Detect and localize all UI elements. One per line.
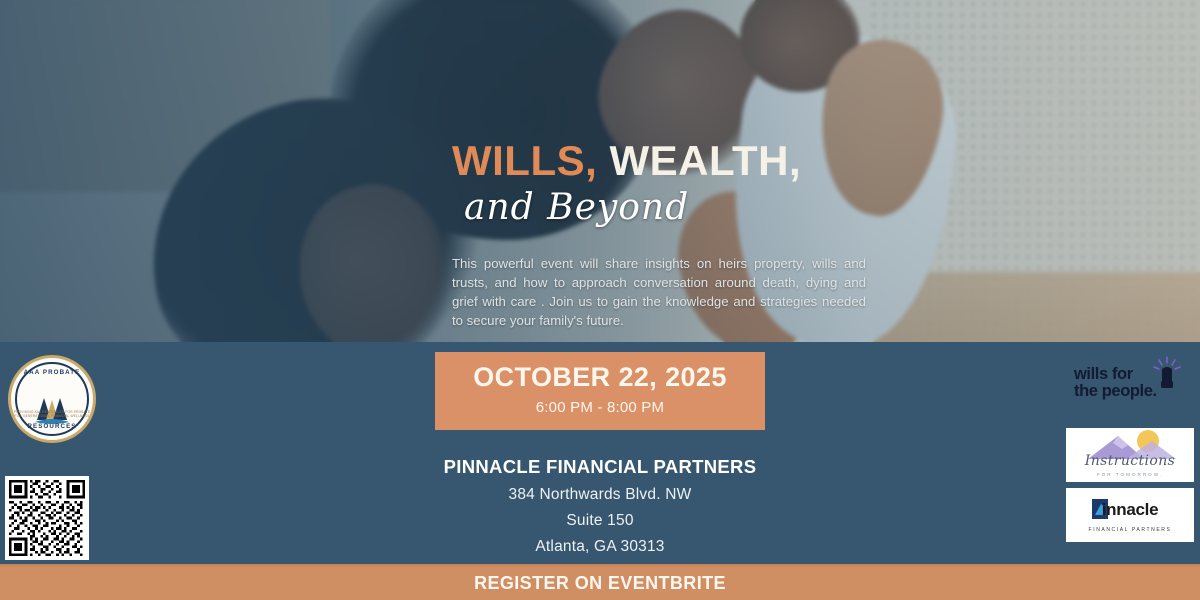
pinnacle-subtitle: FINANCIAL PARTNERS: [1066, 527, 1194, 533]
hero-text-block: WILLS, WEALTH, and Beyond This powerful …: [452, 140, 872, 330]
register-cta-label: REGISTER ON EVENTBRITE: [474, 573, 726, 594]
event-date: OCTOBER 22, 2025: [473, 363, 727, 393]
itf-script-wordmark: Instructions: [1066, 453, 1194, 469]
raised-fist-icon: [1150, 356, 1184, 390]
title-part-wills: WILLS,: [452, 137, 597, 184]
page-subtitle: and Beyond: [464, 188, 872, 228]
title-part-wealth: WEALTH,: [597, 137, 801, 184]
event-flyer: WILLS, WEALTH, and Beyond This powerful …: [0, 0, 1200, 600]
address-line-2: Suite 150: [0, 512, 1200, 530]
event-description: This powerful event will share insights …: [452, 254, 866, 330]
venue-name: PINNACLE FINANCIAL PARTNERS: [0, 456, 1200, 478]
date-badge: OCTOBER 22, 2025 6:00 PM - 8:00 PM: [435, 352, 765, 430]
wftp-line-1: wills for: [1074, 366, 1157, 383]
itf-subtitle: FOR TOMORROW.: [1066, 472, 1194, 477]
sponsor-logos: wills for the people.: [1066, 350, 1194, 542]
sponsor-instructions-for-tomorrow: Instructions FOR TOMORROW.: [1066, 428, 1194, 482]
address-line-1: 384 Northwards Blvd. NW: [0, 486, 1200, 504]
register-cta-bar[interactable]: REGISTER ON EVENTBRITE: [0, 564, 1200, 600]
page-title: WILLS, WEALTH,: [452, 140, 872, 182]
details-panel: AAA PROBATE PROVIDING AAA RESOURCES FOR …: [0, 342, 1200, 564]
event-details-column: OCTOBER 22, 2025 6:00 PM - 8:00 PM PINNA…: [0, 342, 1200, 556]
event-time: 6:00 PM - 8:00 PM: [473, 399, 727, 416]
address-line-3: Atlanta, GA 30313: [0, 538, 1200, 556]
pinnacle-wordmark: innacle: [1066, 500, 1194, 520]
wills-for-the-people-wordmark: wills for the people.: [1074, 366, 1157, 400]
sponsor-pinnacle-financial-partners: innacle FINANCIAL PARTNERS: [1066, 488, 1194, 542]
hero-photo: WILLS, WEALTH, and Beyond This powerful …: [0, 0, 1200, 342]
sponsor-wills-for-the-people: wills for the people.: [1066, 350, 1194, 422]
wftp-line-2: the people.: [1074, 383, 1157, 400]
